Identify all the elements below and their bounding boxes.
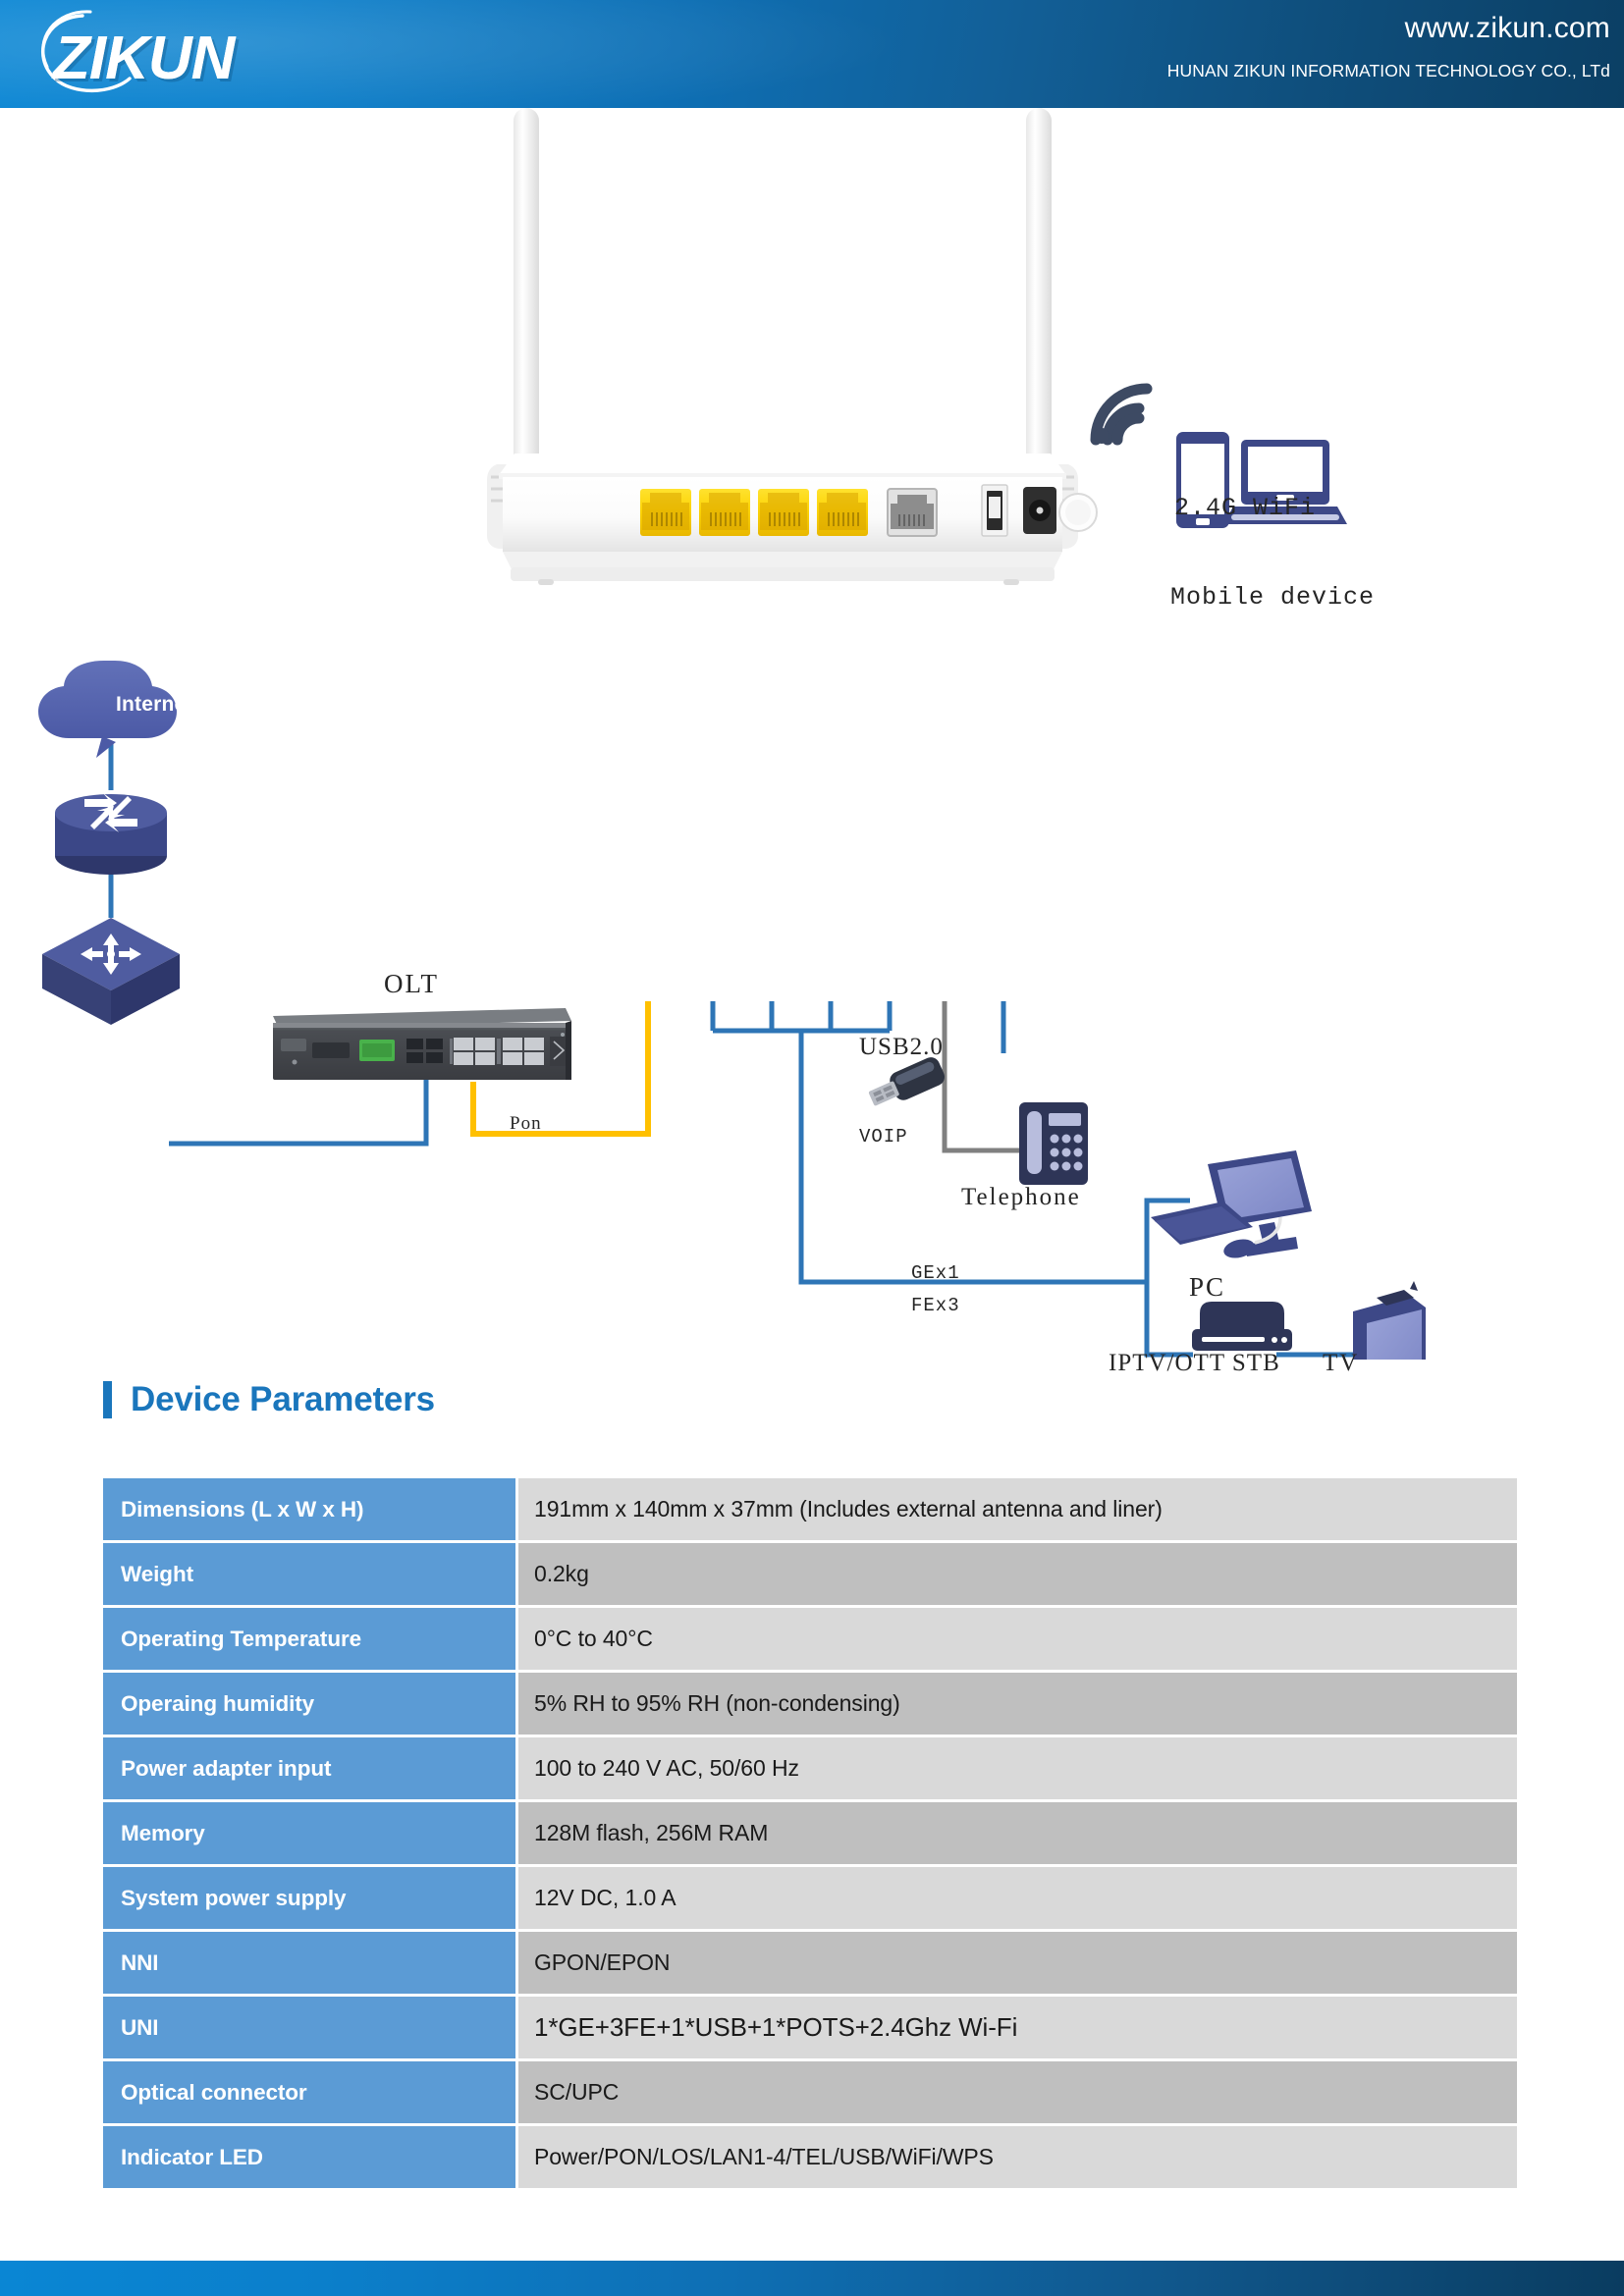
param-key: Operaing humidity	[103, 1673, 515, 1735]
telephone-icon	[1019, 1102, 1088, 1185]
fe-port-count-label: FEx3	[911, 1295, 960, 1316]
set-top-box-label: IPTV/OTT STB	[1109, 1350, 1280, 1377]
param-key: Indicator LED	[103, 2126, 515, 2188]
pc-label: PC	[1189, 1272, 1225, 1303]
param-key: UNI	[103, 1997, 515, 2058]
param-value: 0°C to 40°C	[515, 1608, 1517, 1670]
page-footer-bar	[0, 2261, 1624, 2296]
param-key: Power adapter input	[103, 1737, 515, 1799]
header-company-name: HUNAN ZIKUN INFORMATION TECHNOLOGY CO., …	[1167, 61, 1610, 81]
param-value: GPON/EPON	[515, 1932, 1517, 1994]
param-key: Weight	[103, 1543, 515, 1605]
mobile-device-label: Mobile device	[1170, 583, 1375, 612]
param-value: SC/UPC	[515, 2061, 1517, 2123]
internet-cloud-label: Internet	[116, 693, 193, 717]
page-header: ZIKUN ZIKUN ZIKUN www.zikun.com HUNAN ZI…	[0, 0, 1624, 108]
table-row: Dimensions (L x W x H) 191mm x 140mm x 3…	[103, 1478, 1517, 1540]
tv-label: TV	[1323, 1350, 1359, 1377]
usb-port	[982, 485, 1007, 536]
gpon-ont-router-image	[487, 108, 1097, 585]
core-router-icon	[55, 793, 167, 875]
table-row: Memory 128M flash, 256M RAM	[103, 1802, 1517, 1864]
usb-flash-drive-icon	[865, 1054, 947, 1112]
param-value: 12V DC, 1.0 A	[515, 1867, 1517, 1929]
param-value: 0.2kg	[515, 1543, 1517, 1605]
svg-text:ZIKUN: ZIKUN	[51, 25, 237, 92]
pc-workstation-icon	[1151, 1150, 1312, 1261]
wifi-label: 2.4G WiFi	[1174, 494, 1316, 522]
param-value: 128M flash, 256M RAM	[515, 1802, 1517, 1864]
voip-link-label: VOIP	[859, 1126, 908, 1148]
param-value: 5% RH to 95% RH (non-condensing)	[515, 1673, 1517, 1735]
olt-label: OLT	[384, 969, 439, 999]
param-key: Dimensions (L x W x H)	[103, 1478, 515, 1540]
pon-link-label: Pon	[510, 1113, 542, 1135]
device-parameters-heading: Device Parameters	[103, 1380, 435, 1419]
set-top-box-icon	[1192, 1302, 1292, 1351]
param-key: NNI	[103, 1932, 515, 1994]
param-key: System power supply	[103, 1867, 515, 1929]
telephone-label: Telephone	[961, 1184, 1081, 1211]
param-key: Operating Temperature	[103, 1608, 515, 1670]
network-topology-diagram: Internet 2.4G WiFi Mobile device OLT Pon…	[0, 108, 1624, 1360]
table-row: Operaing humidity 5% RH to 95% RH (non-c…	[103, 1673, 1517, 1735]
table-row: Indicator LED Power/PON/LOS/LAN1-4/TEL/U…	[103, 2126, 1517, 2188]
table-row: Optical connector SC/UPC	[103, 2061, 1517, 2123]
table-row: Operating Temperature 0°C to 40°C	[103, 1608, 1517, 1670]
wifi-signal-icon	[1094, 389, 1147, 444]
table-row: NNI GPON/EPON	[103, 1932, 1517, 1994]
usb-label: USB2.0	[859, 1034, 944, 1061]
param-value: 100 to 240 V AC, 50/60 Hz	[515, 1737, 1517, 1799]
page-title: Device Parameters	[131, 1380, 435, 1419]
product-datasheet-page: ZIKUN ZIKUN ZIKUN www.zikun.com HUNAN ZI…	[0, 0, 1624, 2296]
param-value: Power/PON/LOS/LAN1-4/TEL/USB/WiFi/WPS	[515, 2126, 1517, 2188]
param-key: Memory	[103, 1802, 515, 1864]
param-value: 1*GE+3FE+1*USB+1*POTS+2.4Ghz Wi-Fi	[515, 1997, 1517, 2058]
crt-tv-icon	[1353, 1281, 1426, 1360]
olt-device-image	[273, 1008, 571, 1080]
table-row: UNI 1*GE+3FE+1*USB+1*POTS+2.4Ghz Wi-Fi	[103, 1997, 1517, 2058]
table-row: Power adapter input 100 to 240 V AC, 50/…	[103, 1737, 1517, 1799]
power-button	[1059, 494, 1097, 531]
param-value: 191mm x 140mm x 37mm (Includes external …	[515, 1478, 1517, 1540]
table-row: Weight 0.2kg	[103, 1543, 1517, 1605]
power-jack	[1023, 487, 1056, 534]
ge-port-count-label: GEx1	[911, 1262, 960, 1284]
param-key: Optical connector	[103, 2061, 515, 2123]
pots-port	[888, 489, 937, 536]
table-row: System power supply 12V DC, 1.0 A	[103, 1867, 1517, 1929]
device-parameters-table: Dimensions (L x W x H) 191mm x 140mm x 3…	[103, 1475, 1517, 2191]
heading-accent-bar	[103, 1381, 112, 1418]
zikun-logo: ZIKUN ZIKUN ZIKUN	[22, 6, 287, 100]
header-website-url[interactable]: www.zikun.com	[1405, 12, 1610, 45]
aggregation-switch-icon	[42, 918, 180, 1025]
